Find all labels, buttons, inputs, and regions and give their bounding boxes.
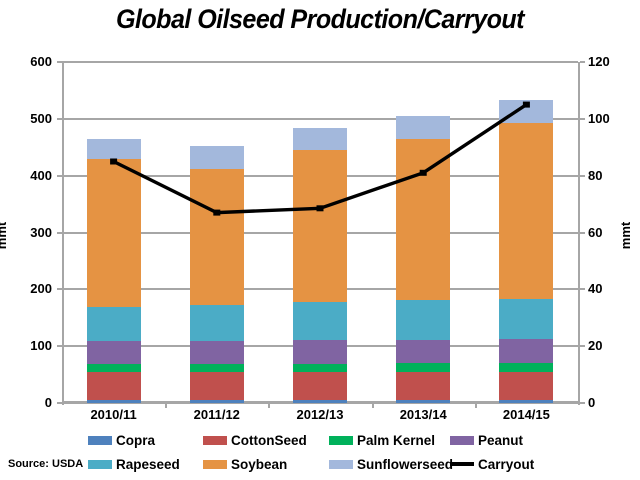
bar-segment-palm-kernel[interactable] (87, 364, 141, 372)
x-axis-tick-label: 2012/13 (268, 407, 371, 422)
bar-segment-palm-kernel[interactable] (499, 363, 553, 373)
bar-segment-sunflowerseed[interactable] (293, 128, 347, 150)
bar-segment-soybean[interactable] (499, 123, 553, 299)
left-axis-tick-label: 100 (8, 338, 52, 353)
right-axis-tick-label: 20 (588, 338, 634, 353)
x-axis-tickmark (268, 403, 270, 408)
legend-item-rapeseed[interactable]: Rapeseed (88, 457, 203, 472)
right-axis-tick-label: 120 (588, 54, 634, 69)
legend-label: Copra (116, 433, 155, 448)
right-axis-tickmark (580, 402, 585, 404)
bar-segment-peanut[interactable] (293, 340, 347, 363)
chart-root: Global Oilseed Production/Carryout 01002… (0, 0, 640, 480)
left-axis-tick-label: 400 (8, 168, 52, 183)
legend-color-swatch (329, 436, 353, 445)
left-axis-tickmark (57, 232, 62, 234)
bar-segment-rapeseed[interactable] (190, 305, 244, 341)
bar-segment-rapeseed[interactable] (396, 300, 450, 340)
left-axis-tick-label: 0 (8, 395, 52, 410)
bar-group[interactable] (499, 62, 553, 403)
right-axis-tickmark (580, 232, 585, 234)
bar-group[interactable] (87, 62, 141, 403)
bar-segment-soybean[interactable] (87, 159, 141, 307)
legend-label: Peanut (478, 433, 523, 448)
bar-segment-peanut[interactable] (396, 340, 450, 363)
bar-segment-palm-kernel[interactable] (396, 363, 450, 372)
right-axis-line (578, 62, 580, 405)
left-axis-tickmark (57, 288, 62, 290)
legend-color-swatch (88, 436, 112, 445)
right-axis-tickmark (580, 345, 585, 347)
legend-label: Rapeseed (116, 457, 180, 472)
legend-item-carryout[interactable]: Carryout (450, 457, 534, 472)
legend-color-swatch (203, 460, 227, 469)
bar-segment-sunflowerseed[interactable] (190, 146, 244, 169)
legend-color-swatch (450, 436, 474, 445)
legend-item-cottonseed[interactable]: CottonSeed (203, 433, 329, 448)
x-axis-tick-label: 2010/11 (62, 407, 165, 422)
bar-group[interactable] (293, 62, 347, 403)
right-axis-tickmark (580, 288, 585, 290)
bar-segment-peanut[interactable] (190, 341, 244, 364)
bar-segment-cottonseed[interactable] (87, 372, 141, 400)
bar-segment-copra[interactable] (499, 400, 553, 403)
x-axis-tickmark (165, 403, 167, 408)
chart-title: Global Oilseed Production/Carryout (22, 4, 617, 35)
left-axis-tickmark (57, 345, 62, 347)
left-axis-tickmark (57, 118, 62, 120)
legend-item-sunflowerseed[interactable]: Sunflowerseed (329, 457, 450, 472)
legend-item-soybean[interactable]: Soybean (203, 457, 329, 472)
legend-line-icon (450, 462, 474, 466)
bar-segment-palm-kernel[interactable] (190, 364, 244, 372)
legend-row-1: CopraCottonSeedPalm KernelPeanut (88, 428, 558, 452)
x-axis-tickmark (372, 403, 374, 408)
bar-segment-soybean[interactable] (396, 139, 450, 300)
right-axis-tickmark (580, 118, 585, 120)
legend-color-swatch (88, 460, 112, 469)
x-axis-tick-label: 2014/15 (475, 407, 578, 422)
bar-segment-sunflowerseed[interactable] (396, 116, 450, 139)
legend-label: Soybean (231, 457, 287, 472)
bar-segment-copra[interactable] (190, 400, 244, 403)
bar-segment-cottonseed[interactable] (293, 372, 347, 400)
chart-legend: CopraCottonSeedPalm KernelPeanut Rapesee… (88, 428, 558, 476)
source-note: Source: USDA (8, 458, 83, 470)
left-axis-tick-label: 500 (8, 111, 52, 126)
legend-color-swatch (329, 460, 353, 469)
right-axis-tick-label: 80 (588, 168, 634, 183)
bar-segment-soybean[interactable] (293, 150, 347, 302)
bar-segment-cottonseed[interactable] (396, 372, 450, 400)
bar-segment-rapeseed[interactable] (293, 302, 347, 340)
x-axis-tick-label: 2011/12 (165, 407, 268, 422)
legend-row-2: RapeseedSoybeanSunflowerseedCarryout (88, 452, 558, 476)
bar-group[interactable] (190, 62, 244, 403)
left-axis-tick-label: 200 (8, 281, 52, 296)
bar-segment-copra[interactable] (396, 400, 450, 403)
right-axis-tick-label: 100 (588, 111, 634, 126)
right-axis-tick-label: 0 (588, 395, 634, 410)
bar-segment-copra[interactable] (293, 400, 347, 403)
bar-segment-copra[interactable] (87, 400, 141, 403)
bar-segment-rapeseed[interactable] (499, 299, 553, 339)
legend-item-copra[interactable]: Copra (88, 433, 203, 448)
left-axis-tickmark (57, 175, 62, 177)
bar-segment-sunflowerseed[interactable] (87, 139, 141, 158)
right-axis-tick-label: 40 (588, 281, 634, 296)
legend-label: Palm Kernel (357, 433, 435, 448)
bar-segment-cottonseed[interactable] (499, 372, 553, 400)
bar-group[interactable] (396, 62, 450, 403)
left-axis-tickmark (57, 402, 62, 404)
left-axis-label: mmt (0, 222, 9, 249)
bar-segment-rapeseed[interactable] (87, 307, 141, 341)
bar-segment-soybean[interactable] (190, 169, 244, 305)
right-axis-tickmark (580, 61, 585, 63)
legend-label: CottonSeed (231, 433, 307, 448)
bar-segment-palm-kernel[interactable] (293, 364, 347, 373)
plot-area (62, 62, 578, 403)
right-axis-label: mmt (618, 222, 633, 249)
right-axis-tickmark (580, 175, 585, 177)
left-axis-tick-label: 300 (8, 225, 52, 240)
legend-item-peanut[interactable]: Peanut (450, 433, 523, 448)
legend-color-swatch (203, 436, 227, 445)
legend-label: Sunflowerseed (357, 457, 453, 472)
x-axis-tick-label: 2013/14 (372, 407, 475, 422)
bar-segment-sunflowerseed[interactable] (499, 100, 553, 123)
legend-label: Carryout (478, 457, 534, 472)
bar-segment-cottonseed[interactable] (190, 372, 244, 400)
bar-segment-peanut[interactable] (87, 341, 141, 364)
x-axis-tickmark (475, 403, 477, 408)
left-axis-tick-label: 600 (8, 54, 52, 69)
left-axis-tickmark (57, 61, 62, 63)
legend-item-palm-kernel[interactable]: Palm Kernel (329, 433, 450, 448)
bar-segment-peanut[interactable] (499, 339, 553, 362)
